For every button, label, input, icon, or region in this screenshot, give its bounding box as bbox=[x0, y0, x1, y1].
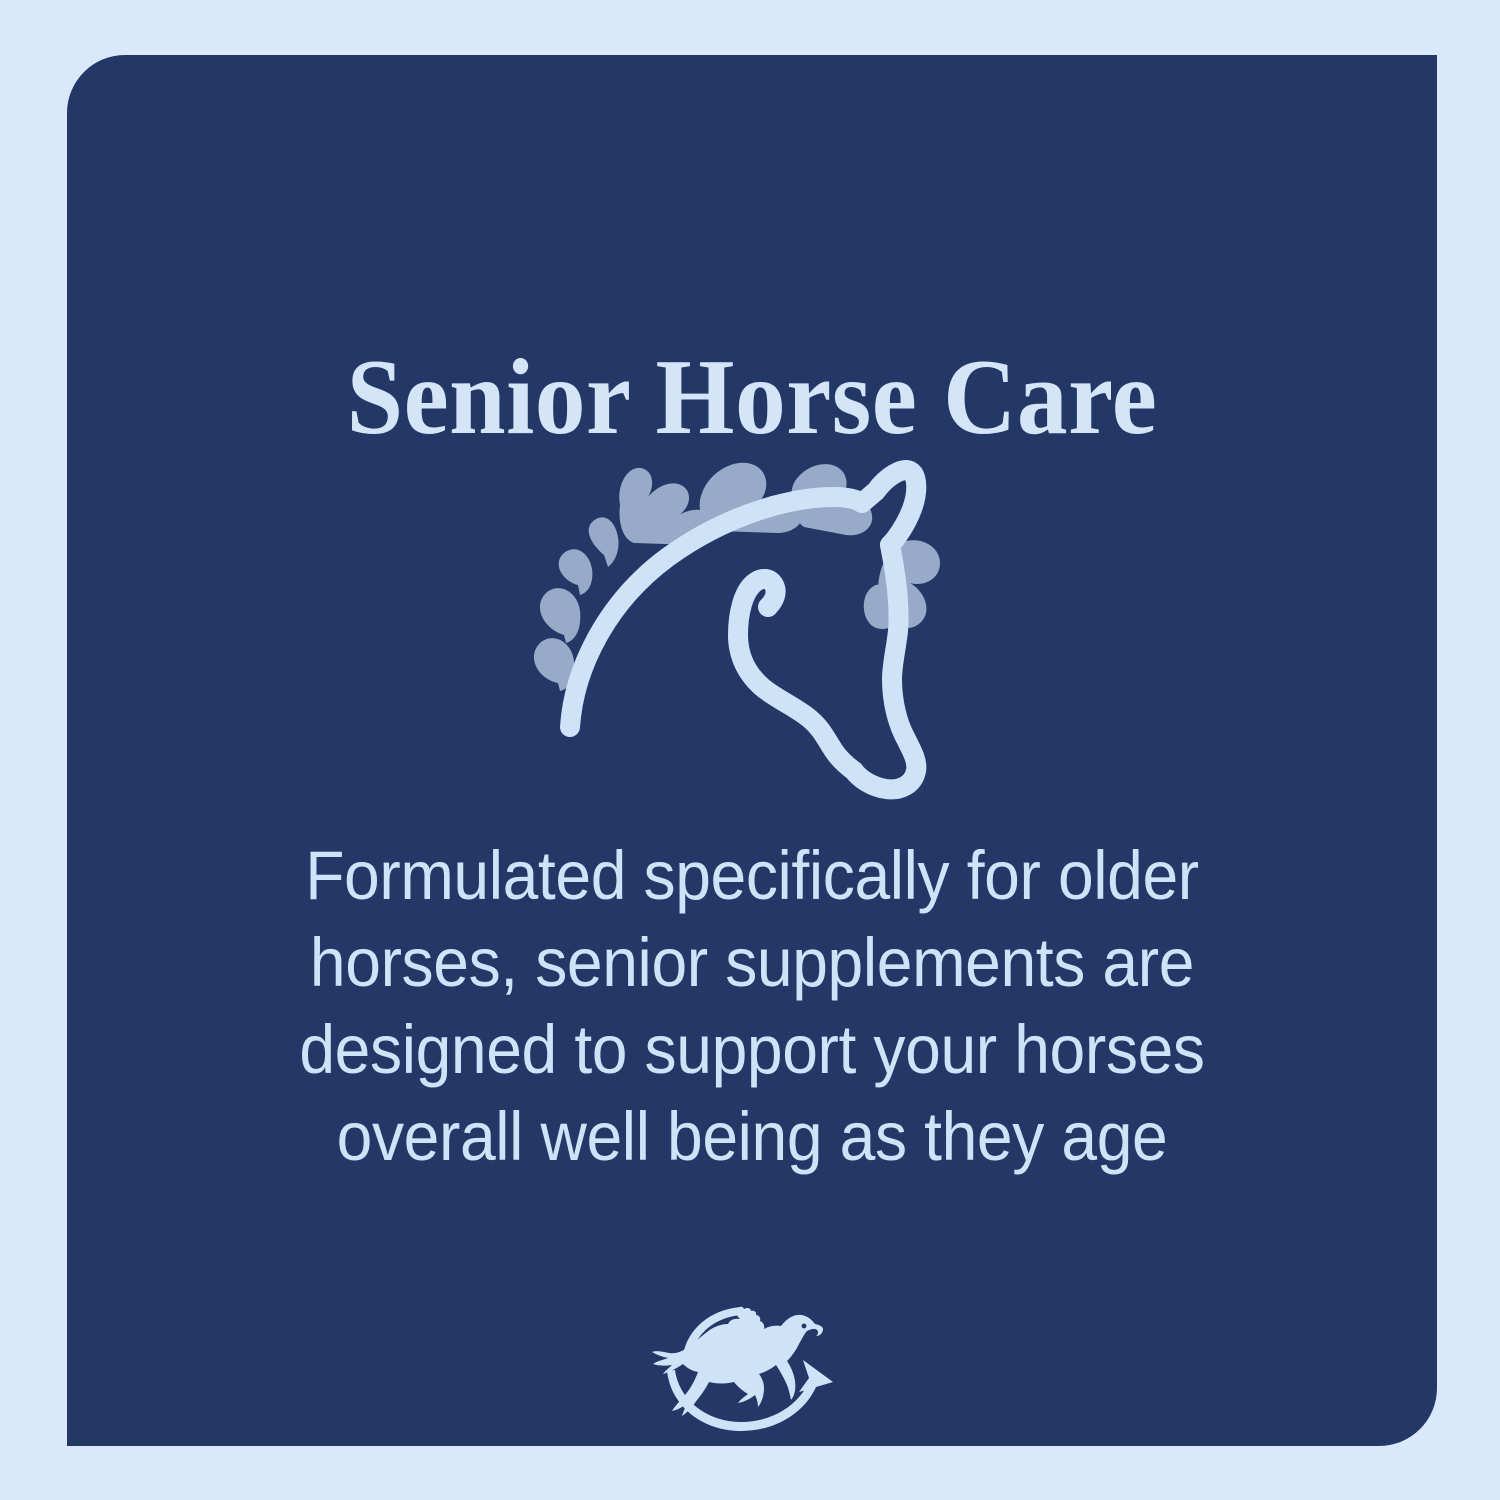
description-line: designed to support your horses bbox=[282, 1007, 1221, 1094]
galloping-horse-circle-arrow-icon bbox=[647, 1298, 862, 1433]
description-text: Formulated specifically for older horses… bbox=[282, 833, 1221, 1181]
description-line: horses, senior supplements are bbox=[282, 920, 1221, 1007]
description-line: overall well being as they age bbox=[282, 1094, 1221, 1181]
description-line: Formulated specifically for older bbox=[282, 833, 1221, 920]
poster-canvas: Senior Horse Care bbox=[0, 0, 1500, 1500]
senior-horse-care-card: Senior Horse Care bbox=[67, 55, 1437, 1446]
horse-head-outline-icon bbox=[504, 435, 984, 815]
